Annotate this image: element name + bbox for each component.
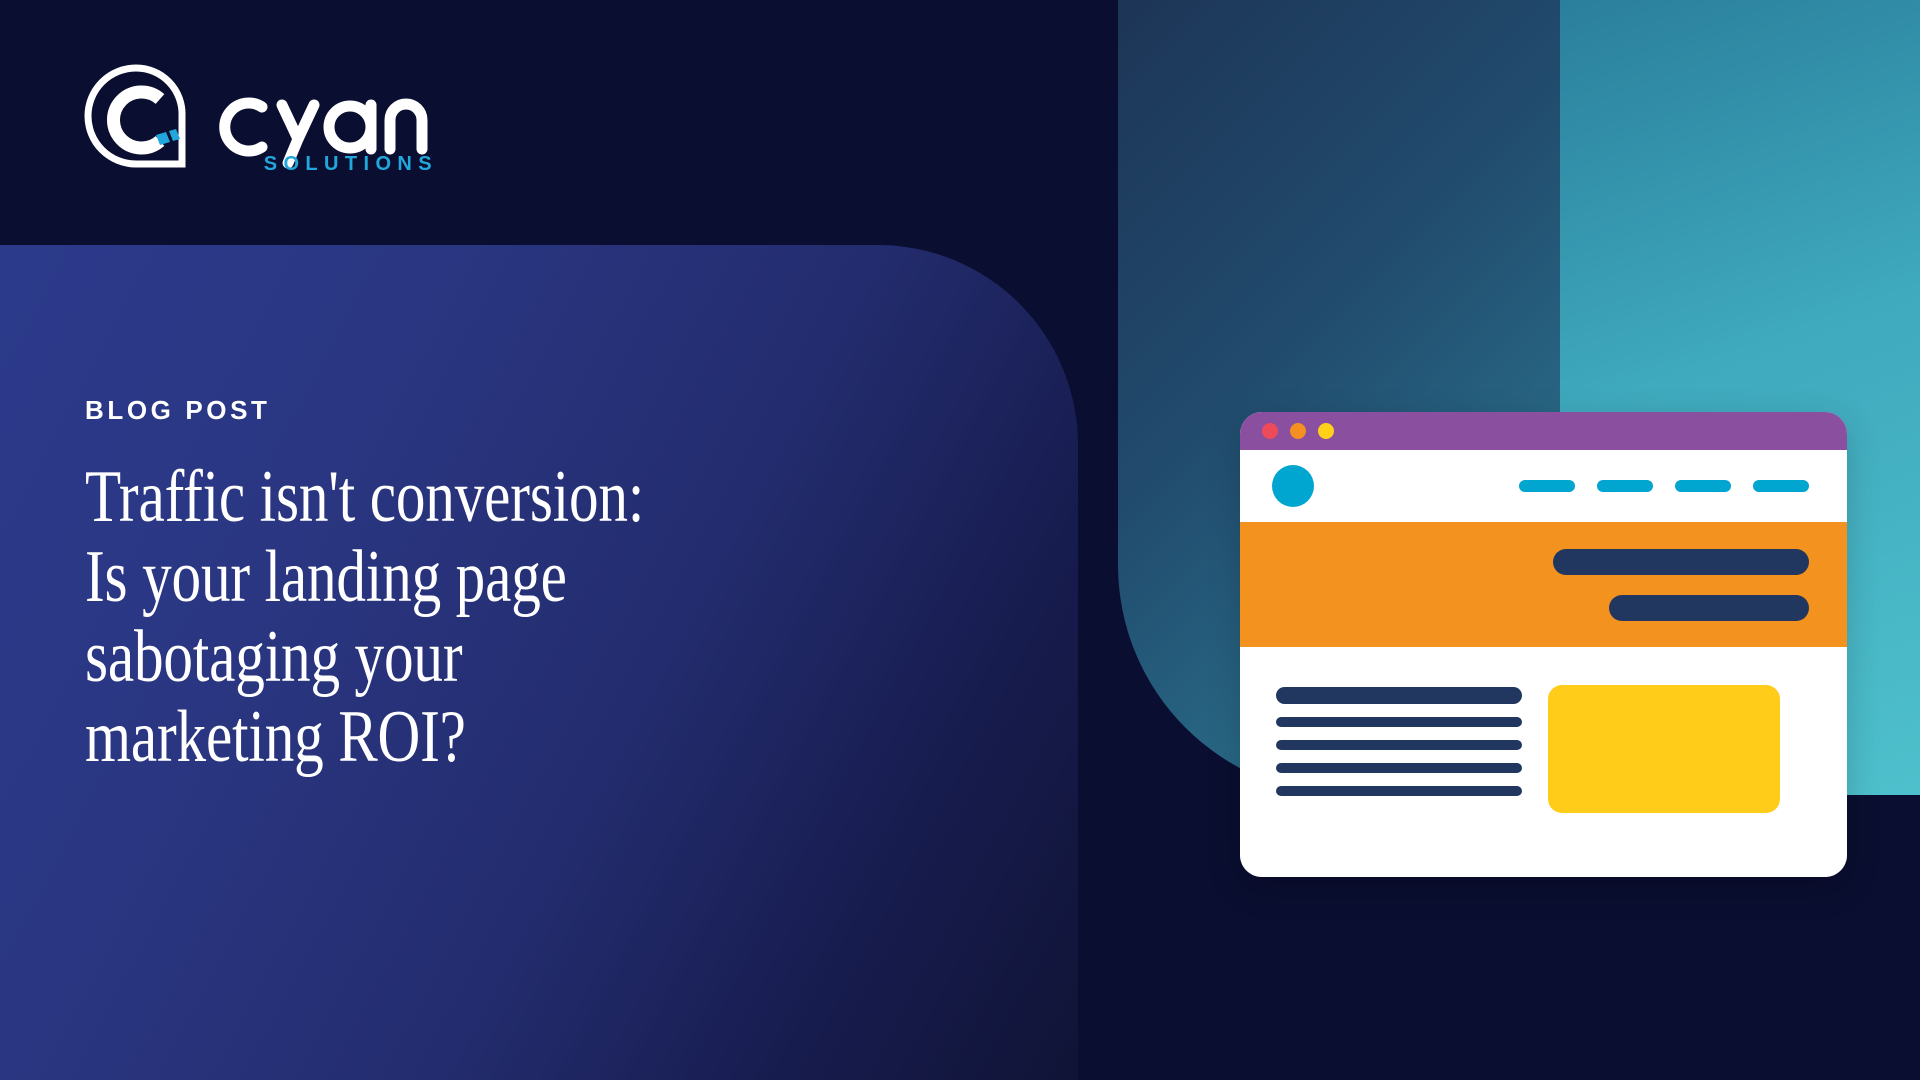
- mock-nav-item[interactable]: [1519, 480, 1575, 492]
- mock-content-heading-bar: [1276, 687, 1522, 704]
- mock-content-line: [1276, 740, 1522, 750]
- cyan-solutions-logo[interactable]: SOLUTIONS: [82, 62, 440, 184]
- mock-cta-block[interactable]: [1548, 685, 1780, 813]
- mock-hero-headline-bar: [1553, 549, 1809, 575]
- mock-content-line: [1276, 786, 1522, 796]
- mock-nav-item[interactable]: [1675, 480, 1731, 492]
- cyan-wordmark: SOLUTIONS: [210, 75, 440, 171]
- mock-content-section: [1240, 647, 1847, 877]
- minimize-dot-icon: [1290, 423, 1306, 439]
- browser-titlebar: [1240, 412, 1847, 450]
- maximize-dot-icon: [1318, 423, 1334, 439]
- browser-window-illustration: [1240, 412, 1847, 877]
- eyebrow-label: BLOG POST: [85, 395, 945, 426]
- copy-block: BLOG POST Traffic isn't conversion: Is y…: [85, 395, 945, 778]
- logo-tagline: SOLUTIONS: [264, 153, 438, 176]
- mock-content-line: [1276, 763, 1522, 773]
- cyan-c-monogram-icon: [82, 62, 190, 184]
- mock-brand-logo-icon: [1272, 465, 1314, 507]
- mock-nav-links: [1519, 480, 1809, 492]
- mock-navbar: [1240, 450, 1847, 522]
- mock-nav-item[interactable]: [1753, 480, 1809, 492]
- mock-nav-item[interactable]: [1597, 480, 1653, 492]
- mock-hero-section: [1240, 522, 1847, 647]
- mock-hero-subheadline-bar: [1609, 595, 1809, 621]
- close-dot-icon: [1262, 423, 1278, 439]
- mock-content-line: [1276, 717, 1522, 727]
- mock-text-column: [1276, 679, 1522, 877]
- page-title: Traffic isn't conversion: Is your landin…: [85, 458, 945, 778]
- blog-post-banner: SOLUTIONS BLOG POST Traffic isn't conver…: [0, 0, 1920, 1080]
